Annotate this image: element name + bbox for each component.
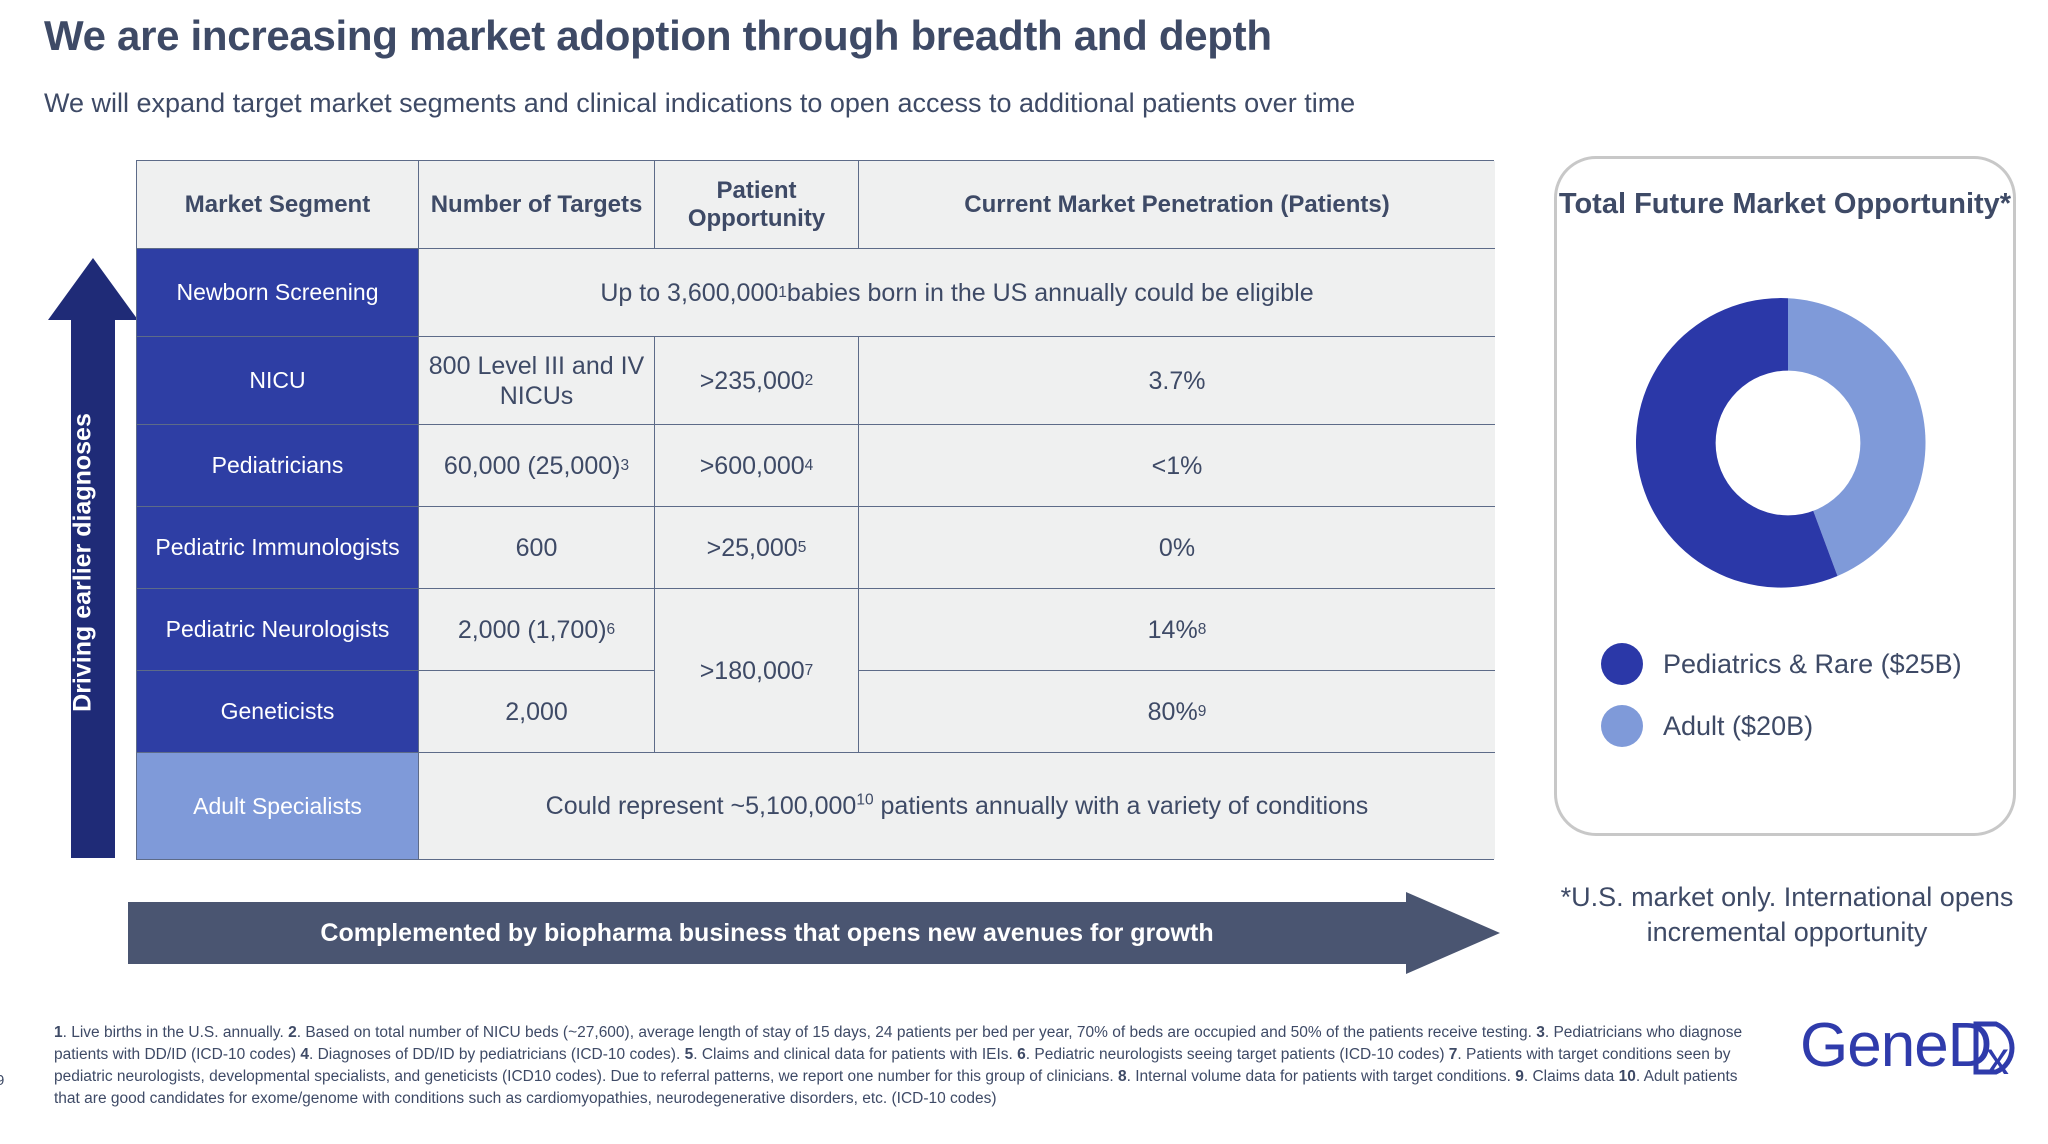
page-number: 9 [0, 1072, 4, 1089]
adult-text-post: patients annually with a variety of cond… [874, 792, 1369, 820]
market-segment-table: Market Segment Number of Targets Patient… [136, 160, 1494, 860]
table-row-segment-geneticists: Geneticists [137, 671, 419, 753]
footnotes-text: 1. Live births in the U.S. annually. 2. … [54, 1024, 1742, 1107]
pediatricians-targets: 60,000 (25,000)3 [419, 425, 655, 507]
legend-label-adult: Adult ($20B) [1663, 711, 1813, 742]
pediatricians-opportunity-value: >600,000 [700, 451, 805, 481]
newborn-text-post: babies born in the US annually could be … [787, 278, 1314, 308]
legend-item-pediatrics-rare: Pediatrics & Rare ($25B) [1601, 643, 2021, 685]
legend-label-pediatrics-rare: Pediatrics & Rare ($25B) [1663, 649, 1962, 680]
card-footnote-us-market-only: *U.S. market only. International opens i… [1548, 880, 2026, 950]
column-header-market-segment: Market Segment [137, 161, 419, 249]
pediatric-neurologists-targets: 2,000 (1,700)6 [419, 589, 655, 671]
table-row-newborn-screening-statement: Up to 3,600,0001 babies born in the US a… [419, 249, 1495, 337]
newborn-text-pre: Up to 3,600,000 [600, 278, 778, 308]
geneticists-penetration: 80%9 [859, 671, 1495, 753]
geneticists-targets-value: 2,000 [505, 697, 568, 727]
table-row-segment-nicu: NICU [137, 337, 419, 425]
pediatric-neurologists-targets-value: 2,000 (1,700) [458, 615, 607, 645]
driving-earlier-diagnoses-arrow: Driving earlier diagnoses [48, 258, 138, 858]
footnote-ref-10: 10 [856, 792, 873, 809]
arrow-head-up-icon [48, 258, 138, 320]
table-row-segment-pediatricians: Pediatricians [137, 425, 419, 507]
nicu-penetration-value: 3.7% [1149, 366, 1206, 396]
column-header-patient-opportunity: Patient Opportunity [655, 161, 859, 249]
banner-label: Complemented by biopharma business that … [320, 919, 1213, 948]
donut-hole [1716, 371, 1861, 516]
pediatric-immunologists-targets: 600 [419, 507, 655, 589]
biopharma-banner-arrow: Complemented by biopharma business that … [128, 892, 1500, 974]
nicu-targets: 800 Level III and IV NICUs [419, 337, 655, 425]
pediatric-immunologists-opportunity: >25,0005 [655, 507, 859, 589]
table-row-segment-pediatric-immunologists: Pediatric Immunologists [137, 507, 419, 589]
pediatricians-opportunity: >600,0004 [655, 425, 859, 507]
genedx-logo: GeneD x [1800, 1004, 2040, 1088]
pediatric-immunologists-opportunity-value: >25,000 [707, 533, 798, 563]
donut-legend: Pediatrics & Rare ($25B) Adult ($20B) [1601, 643, 2021, 767]
nicu-opportunity: >235,0002 [655, 337, 859, 425]
pediatric-neurologists-penetration-value: 14% [1148, 615, 1198, 645]
nicu-penetration: 3.7% [859, 337, 1495, 425]
total-future-market-opportunity-card: Total Future Market Opportunity* Pediatr… [1554, 156, 2016, 836]
legend-swatch-adult [1601, 705, 1643, 747]
table-row-segment-pediatric-neurologists: Pediatric Neurologists [137, 589, 419, 671]
banner-shaft: Complemented by biopharma business that … [128, 902, 1406, 964]
table-row-segment-newborn-screening: Newborn Screening [137, 249, 419, 337]
logo-x: x [1986, 1032, 2009, 1084]
table-row-adult-specialists-statement: Could represent ~5,100,00010 patients an… [419, 753, 1495, 859]
arrow-head-right-icon [1406, 892, 1500, 974]
page-subtitle: We will expand target market segments an… [44, 88, 1844, 119]
pediatric-immunologists-penetration-value: 0% [1159, 533, 1195, 563]
column-header-current-market-penetration: Current Market Penetration (Patients) [859, 161, 1495, 249]
logo-wordmark: GeneD [1800, 1011, 1991, 1080]
page-title: We are increasing market adoption throug… [44, 12, 1744, 60]
footnotes-block: 1. Live births in the U.S. annually. 2. … [54, 1022, 1754, 1110]
merged-patient-opportunity-cell: >180,0007 [655, 589, 859, 753]
geneticists-targets: 2,000 [419, 671, 655, 753]
column-header-number-of-targets: Number of Targets [419, 161, 655, 249]
legend-item-adult: Adult ($20B) [1601, 705, 2021, 747]
pediatric-immunologists-targets-value: 600 [516, 533, 558, 563]
legend-swatch-pediatrics-rare [1601, 643, 1643, 685]
vertical-arrow-label: Driving earlier diagnoses [69, 323, 98, 803]
geneticists-penetration-value: 80% [1148, 697, 1198, 727]
nicu-opportunity-value: >235,000 [700, 366, 805, 396]
adult-text-pre: Could represent ~5,100,000 [546, 792, 857, 820]
pediatric-immunologists-penetration: 0% [859, 507, 1495, 589]
pediatricians-penetration: <1% [859, 425, 1495, 507]
market-opportunity-donut-chart [1634, 289, 1942, 597]
pediatricians-penetration-value: <1% [1152, 451, 1203, 481]
pediatricians-targets-value: 60,000 (25,000) [444, 451, 621, 481]
pediatric-neurologists-penetration: 14%8 [859, 589, 1495, 671]
merged-opportunity-value: >180,000 [700, 656, 805, 686]
card-title: Total Future Market Opportunity* [1557, 187, 2013, 222]
table-row-segment-adult-specialists: Adult Specialists [137, 753, 419, 859]
